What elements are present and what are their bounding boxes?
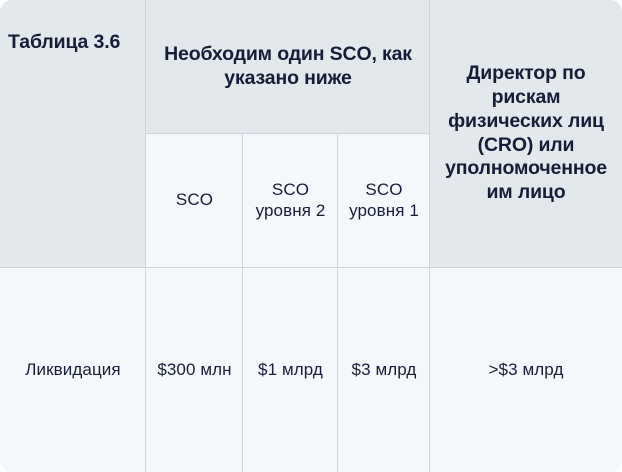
sub-header-sco-level-2: SCO уровня 2 [243, 134, 338, 267]
cell-value-sco-level-2: $1 млрд [258, 360, 323, 381]
cell-value-cro: >$3 млрд [489, 360, 564, 381]
sub-header-sco: SCO [146, 134, 243, 267]
sub-header-sco-level-1-label: SCO уровня 1 [344, 180, 424, 221]
group-header-sco: Необходим один SCO, как указано ниже [146, 0, 430, 134]
sub-header-sco-level-1: SCO уровня 1 [338, 134, 430, 267]
group-header-sco-label: Необходим один SCO, как указано ниже [160, 43, 416, 91]
table-cell-sco-level-1-value: $3 млрд [338, 268, 430, 472]
table-row-label: Ликвидация [0, 268, 146, 472]
group-header-cro-label: Директор по рискам физических лиц (CRO) … [442, 62, 610, 205]
sub-header-sco-level-2-label: SCO уровня 2 [249, 180, 332, 221]
cell-value-sco: $300 млн [157, 360, 231, 381]
sub-header-sco-label: SCO [176, 190, 213, 211]
row-label-liquidation: Ликвидация [25, 360, 120, 381]
column-divider-4 [429, 0, 430, 472]
header-sub-divider [146, 133, 430, 134]
table-3-6: Таблица 3.6 Необходим один SCO, как указ… [0, 0, 622, 472]
column-divider-2 [242, 134, 243, 472]
table-cell-sco-level-2-value: $1 млрд [243, 268, 338, 472]
table-caption-cell: Таблица 3.6 [0, 0, 146, 267]
cell-value-sco-level-1: $3 млрд [352, 360, 417, 381]
group-header-cro: Директор по рискам физических лиц (CRO) … [430, 0, 622, 267]
table-caption: Таблица 3.6 [8, 31, 120, 55]
table-cell-sco-value: $300 млн [146, 268, 243, 472]
header-body-divider [0, 267, 622, 268]
column-divider-3 [337, 134, 338, 472]
table-cell-cro-value: >$3 млрд [430, 268, 622, 472]
column-divider-1 [145, 0, 146, 472]
